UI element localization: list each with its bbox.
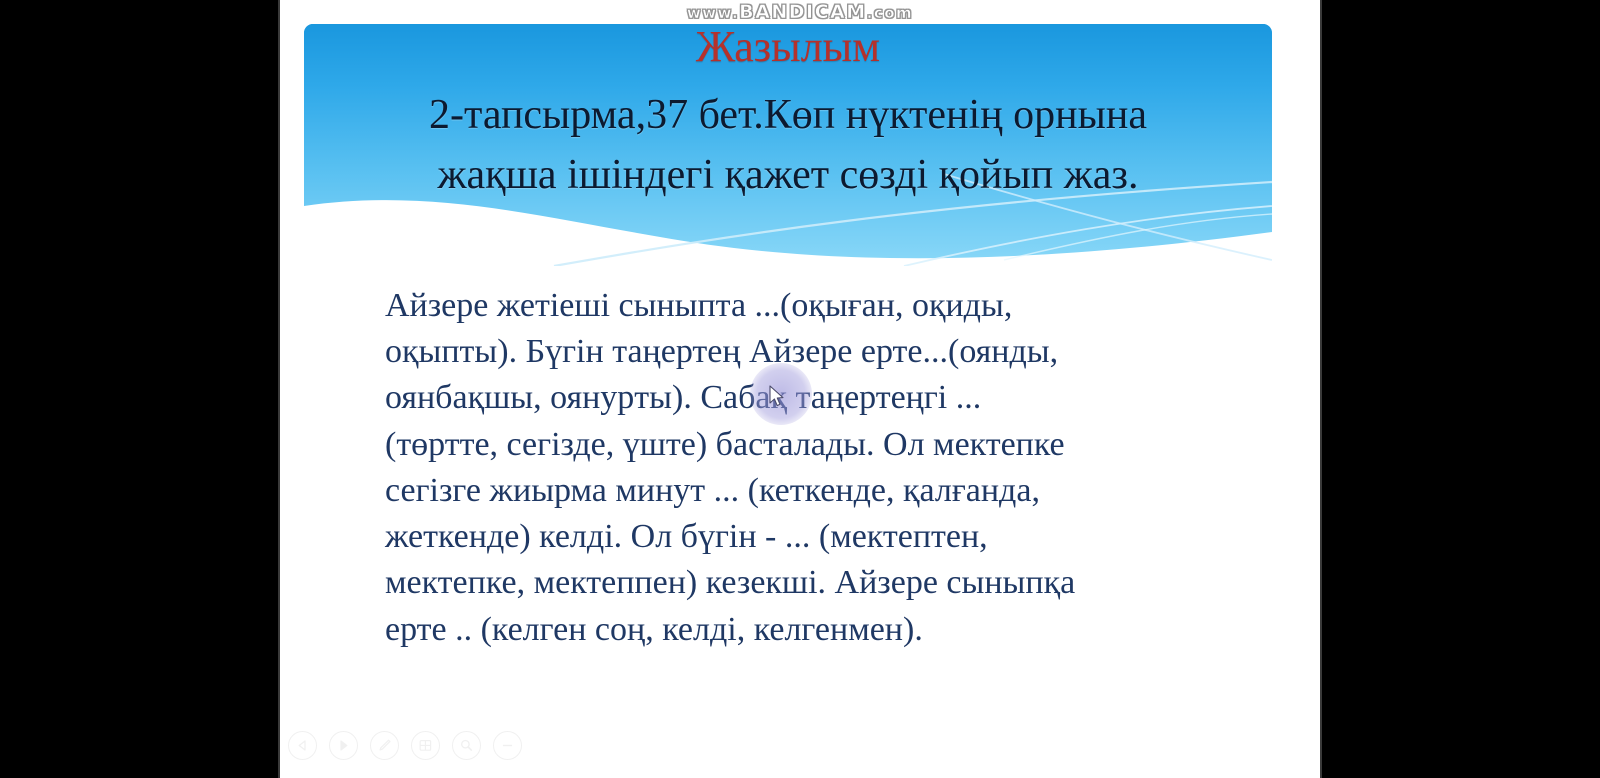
previous-slide-button[interactable] [288,731,317,760]
presentation-slide: Жазылым 2-тапсырма,37 бет.Көп нүктенің о… [280,0,1320,778]
slide-frame-edge-right [1320,0,1322,778]
triangle-left-icon [296,739,309,752]
body-text-line: мектепке, мектеппен) кезекші. Айзере сын… [385,560,1205,606]
body-text-line: (төртте, сегізде, үште) басталады. Ол ме… [385,422,1205,468]
next-slide-button[interactable] [329,731,358,760]
slide-subtitle-line: 2-тапсырма,37 бет.Көп нүктенің орнына [304,86,1272,146]
pen-icon [377,738,392,753]
body-text-line: оқыпты). Бүгін таңертең Айзере ерте...(о… [385,329,1205,375]
video-frame: Жазылым 2-тапсырма,37 бет.Көп нүктенің о… [0,0,1600,778]
slide-subtitle-line: жақша ішіндегі қажет сөзді қойып жаз. [304,146,1272,206]
grid-slides-icon [418,738,433,753]
more-options-button[interactable] [493,731,522,760]
body-text-line: оянбақшы, оянypты). Сабақ таңертеңгі ... [385,375,1205,421]
pen-tool-button[interactable] [370,731,399,760]
minus-icon [500,738,515,753]
slide-title: Жазылым [304,24,1272,70]
slide-body-text: Айзере жетіеші сыныпта ...(оқыған, оқиды… [385,283,1205,653]
letterbox-bar-right [1320,0,1600,778]
slide-overview-button[interactable] [411,731,440,760]
body-text-line: Айзере жетіеші сыныпта ...(оқыған, оқиды… [385,283,1205,329]
slide-subtitle-block: 2-тапсырма,37 бет.Көп нүктенің орнына жа… [304,86,1272,205]
body-text-line: жеткенде) келді. Ол бүгін - ... (мектепт… [385,514,1205,560]
presentation-player-toolbar[interactable] [288,731,522,760]
body-text-line: ерте .. (келген соң, келді, келгенмен). [385,607,1205,653]
magnifier-icon [459,738,474,753]
triangle-right-icon [337,739,350,752]
letterbox-bar-left [0,0,280,778]
slide-header-banner: Жазылым 2-тапсырма,37 бет.Көп нүктенің о… [304,24,1272,266]
body-text-line: сегізге жиырма минут ... (кеткенде, қалғ… [385,468,1205,514]
zoom-button[interactable] [452,731,481,760]
